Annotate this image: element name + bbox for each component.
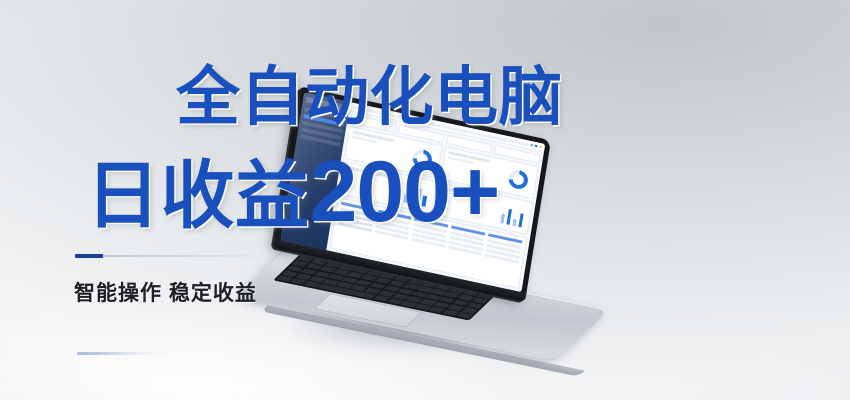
bar-chart (500, 204, 525, 228)
alert-dot-icon (539, 145, 542, 148)
status-dot-icon (530, 144, 533, 147)
donut-chart (507, 168, 529, 190)
promo-banner: 全自动化电脑 日收益200+ 智能操作 稳定收益 (0, 0, 850, 400)
headline-line-2-text: 日收益 (86, 154, 310, 237)
headline-number: 200+ (310, 144, 500, 240)
status-dot-icon (534, 145, 537, 148)
accent-rule-solid (75, 254, 103, 258)
accent-rule (75, 254, 275, 258)
headline-line-2: 日收益200+ (86, 136, 499, 243)
decorative-line (77, 352, 169, 355)
accent-rule-fade (103, 255, 275, 257)
subtitle-text: 智能操作 稳定收益 (74, 277, 257, 307)
headline-line-1: 全自动化电脑 (176, 46, 563, 138)
